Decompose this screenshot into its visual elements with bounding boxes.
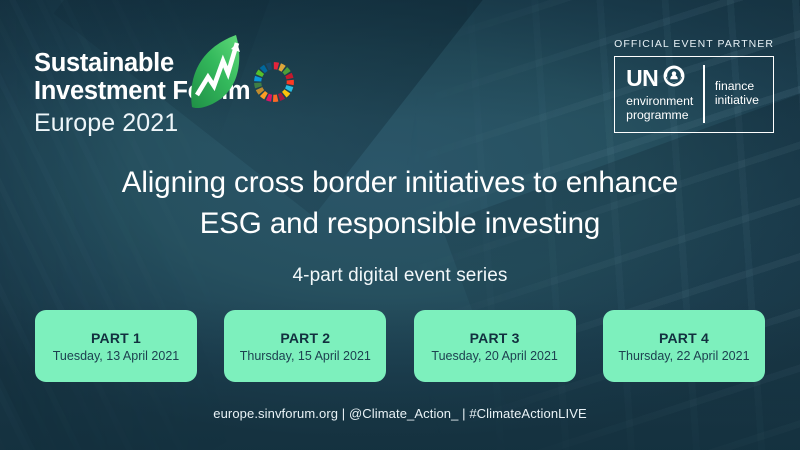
- headline: Aligning cross border initiatives to enh…: [0, 162, 800, 245]
- partner-divider: [703, 65, 705, 123]
- finance-initiative-block: finance initiative: [715, 80, 759, 108]
- part-card-title: PART 4: [659, 330, 709, 346]
- part-card-title: PART 3: [470, 330, 520, 346]
- unep-block: UN: [626, 65, 693, 123]
- un-wordmark: UN: [626, 67, 658, 90]
- headline-line-2: ESG and responsible investing: [0, 203, 800, 244]
- part-card-date: Thursday, 22 April 2021: [618, 349, 749, 363]
- part-card-date: Tuesday, 20 April 2021: [431, 349, 557, 363]
- unep-line-environment: environment: [626, 95, 693, 109]
- part-card-date: Tuesday, 13 April 2021: [53, 349, 179, 363]
- leaf-growth-chart-icon: [182, 33, 254, 116]
- sdg-color-wheel-icon: [250, 58, 298, 111]
- headline-line-1: Aligning cross border initiatives to enh…: [0, 162, 800, 203]
- fi-line-initiative: initiative: [715, 94, 759, 108]
- part-card-title: PART 1: [91, 330, 141, 346]
- part-card-1[interactable]: PART 1 Tuesday, 13 April 2021: [35, 310, 197, 382]
- event-part-cards: PART 1 Tuesday, 13 April 2021 PART 2 Thu…: [35, 310, 765, 382]
- fi-line-finance: finance: [715, 80, 759, 94]
- event-promo-banner: Sustainable Investment Forum Europe 2021: [0, 0, 800, 450]
- official-event-partner: OFFICIAL EVENT PARTNER UN: [614, 38, 774, 133]
- part-card-2[interactable]: PART 2 Thursday, 15 April 2021: [224, 310, 386, 382]
- part-card-3[interactable]: PART 3 Tuesday, 20 April 2021: [414, 310, 576, 382]
- partner-label: OFFICIAL EVENT PARTNER: [614, 38, 774, 50]
- un-emblem-icon: [663, 65, 685, 92]
- part-card-date: Thursday, 15 April 2021: [240, 349, 371, 363]
- subheading: 4-part digital event series: [0, 265, 800, 287]
- un-wordmark-row: UN: [626, 65, 693, 92]
- unep-line-programme: programme: [626, 109, 693, 123]
- footer-links[interactable]: europe.sinvforum.org | @Climate_Action_ …: [0, 406, 800, 421]
- part-card-title: PART 2: [280, 330, 330, 346]
- un-partner-logo-box: UN: [614, 56, 774, 133]
- part-card-4[interactable]: PART 4 Thursday, 22 April 2021: [603, 310, 765, 382]
